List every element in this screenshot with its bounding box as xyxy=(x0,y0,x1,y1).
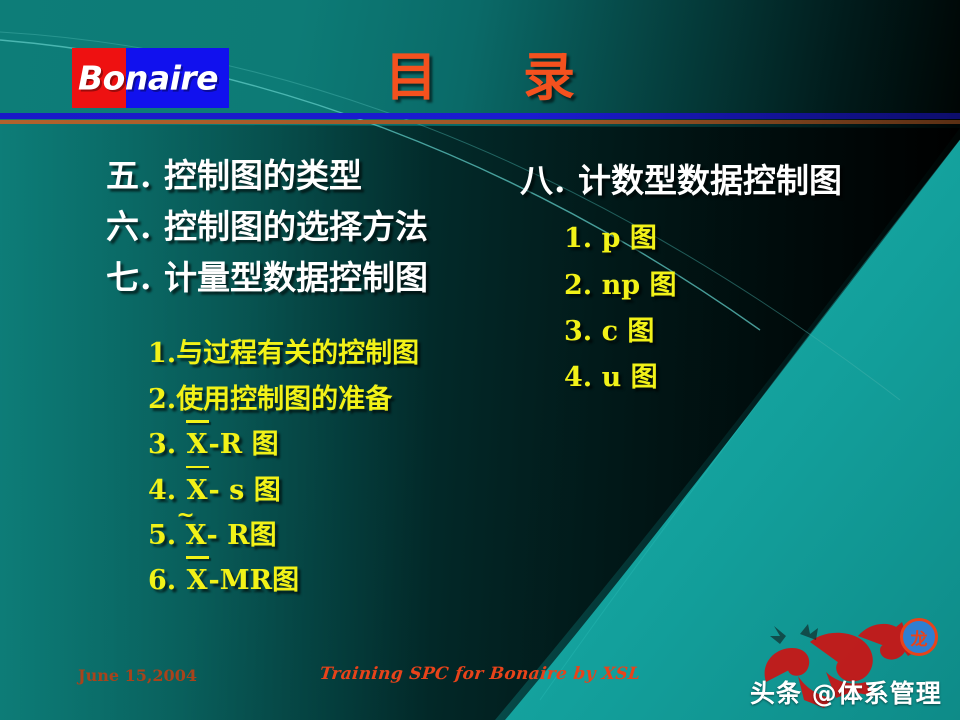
right-subitem-2-label: np 图 xyxy=(602,270,677,301)
toc-item-8-label: 计数型数据控制图 xyxy=(578,161,842,200)
right-subitem-2-number: 2. xyxy=(564,270,592,301)
header-rule-blue xyxy=(0,113,960,119)
toc-item-5[interactable]: 五. 控制图的类型 xyxy=(106,150,526,201)
toc-item-6[interactable]: 六. 控制图的选择方法 xyxy=(106,201,526,252)
bonaire-logo: Bonaire xyxy=(72,48,229,108)
right-subitem-4-label: u 图 xyxy=(602,362,658,393)
xbar-overline-icon: X xyxy=(186,422,209,467)
left-subitem-5-number: 5. xyxy=(148,520,176,551)
left-subitem-1[interactable]: 1.与过程有关的控制图 xyxy=(148,331,526,376)
watermark-badge-icon: 龙 xyxy=(900,618,938,656)
right-subitem-1[interactable]: 1. p 图 xyxy=(564,216,940,262)
left-subitem-5[interactable]: 5. X- R图 xyxy=(148,513,526,558)
right-column: 八. 计数型数据控制图 1. p 图 2. np 图 3. c 图 4. u 图 xyxy=(520,155,940,402)
logo-wordmark: Bonaire xyxy=(78,59,235,98)
toc-item-7[interactable]: 七. 计量型数据控制图 xyxy=(106,252,526,303)
left-subitem-4-number: 4. xyxy=(148,475,176,506)
left-subitem-2-number: 2. xyxy=(148,384,176,415)
left-subitem-3[interactable]: 3. X-R 图 xyxy=(148,422,526,467)
right-subitem-1-label: p 图 xyxy=(602,223,657,254)
right-subitem-2[interactable]: 2. np 图 xyxy=(564,263,940,309)
left-subitem-6-number: 6. xyxy=(148,565,176,596)
left-subitem-4[interactable]: 4. X- s 图 xyxy=(148,468,526,513)
watermark: 龙 头条 @体系管理 xyxy=(740,612,960,720)
xbar-overline-icon: X xyxy=(186,558,209,603)
left-subitem-6[interactable]: 6. X-MR图 xyxy=(148,558,526,603)
left-subitem-1-label: 与过程有关的控制图 xyxy=(176,338,419,369)
right-subitem-1-number: 1. xyxy=(564,223,592,254)
toc-item-8[interactable]: 八. 计数型数据控制图 xyxy=(520,155,940,206)
left-subitem-5-label: - R图 xyxy=(207,520,277,551)
toc-item-5-number: 五. xyxy=(106,156,153,195)
right-subitem-3-label: c 图 xyxy=(602,316,655,347)
left-subitem-2[interactable]: 2.使用控制图的准备 xyxy=(148,377,526,422)
toc-item-6-label: 控制图的选择方法 xyxy=(164,207,428,246)
left-subitem-3-label: -R 图 xyxy=(209,429,279,460)
left-subitem-4-label: - s 图 xyxy=(209,475,281,506)
left-subitem-6-label: -MR图 xyxy=(209,565,300,596)
toc-item-5-label: 控制图的类型 xyxy=(164,156,362,195)
presentation-slide: Bonaire 目 录 五. 控制图的类型 六. 控制图的选择方法 七. 计量型… xyxy=(0,0,960,720)
left-subitem-3-number: 3. xyxy=(148,429,176,460)
watermark-text: 头条 @体系管理 xyxy=(750,674,942,710)
toc-item-6-number: 六. xyxy=(106,207,153,246)
right-subitem-4-number: 4. xyxy=(564,362,592,393)
right-subitem-list: 1. p 图 2. np 图 3. c 图 4. u 图 xyxy=(520,216,940,402)
header-rule-orange xyxy=(0,120,960,124)
toc-item-7-number: 七. xyxy=(106,258,153,297)
left-column: 五. 控制图的类型 六. 控制图的选择方法 七. 计量型数据控制图 1.与过程有… xyxy=(106,150,526,604)
toc-item-8-number: 八. xyxy=(520,161,567,200)
toc-item-7-label: 计量型数据控制图 xyxy=(164,258,428,297)
xtilde-icon: X xyxy=(186,513,207,558)
right-subitem-3[interactable]: 3. c 图 xyxy=(564,309,940,355)
left-subitem-2-label: 使用控制图的准备 xyxy=(176,384,392,415)
right-subitem-3-number: 3. xyxy=(564,316,592,347)
left-subitem-list: 1.与过程有关的控制图 2.使用控制图的准备 3. X-R 图 4. X- s … xyxy=(106,331,526,603)
left-subitem-1-number: 1. xyxy=(148,338,176,369)
right-subitem-4[interactable]: 4. u 图 xyxy=(564,355,940,401)
